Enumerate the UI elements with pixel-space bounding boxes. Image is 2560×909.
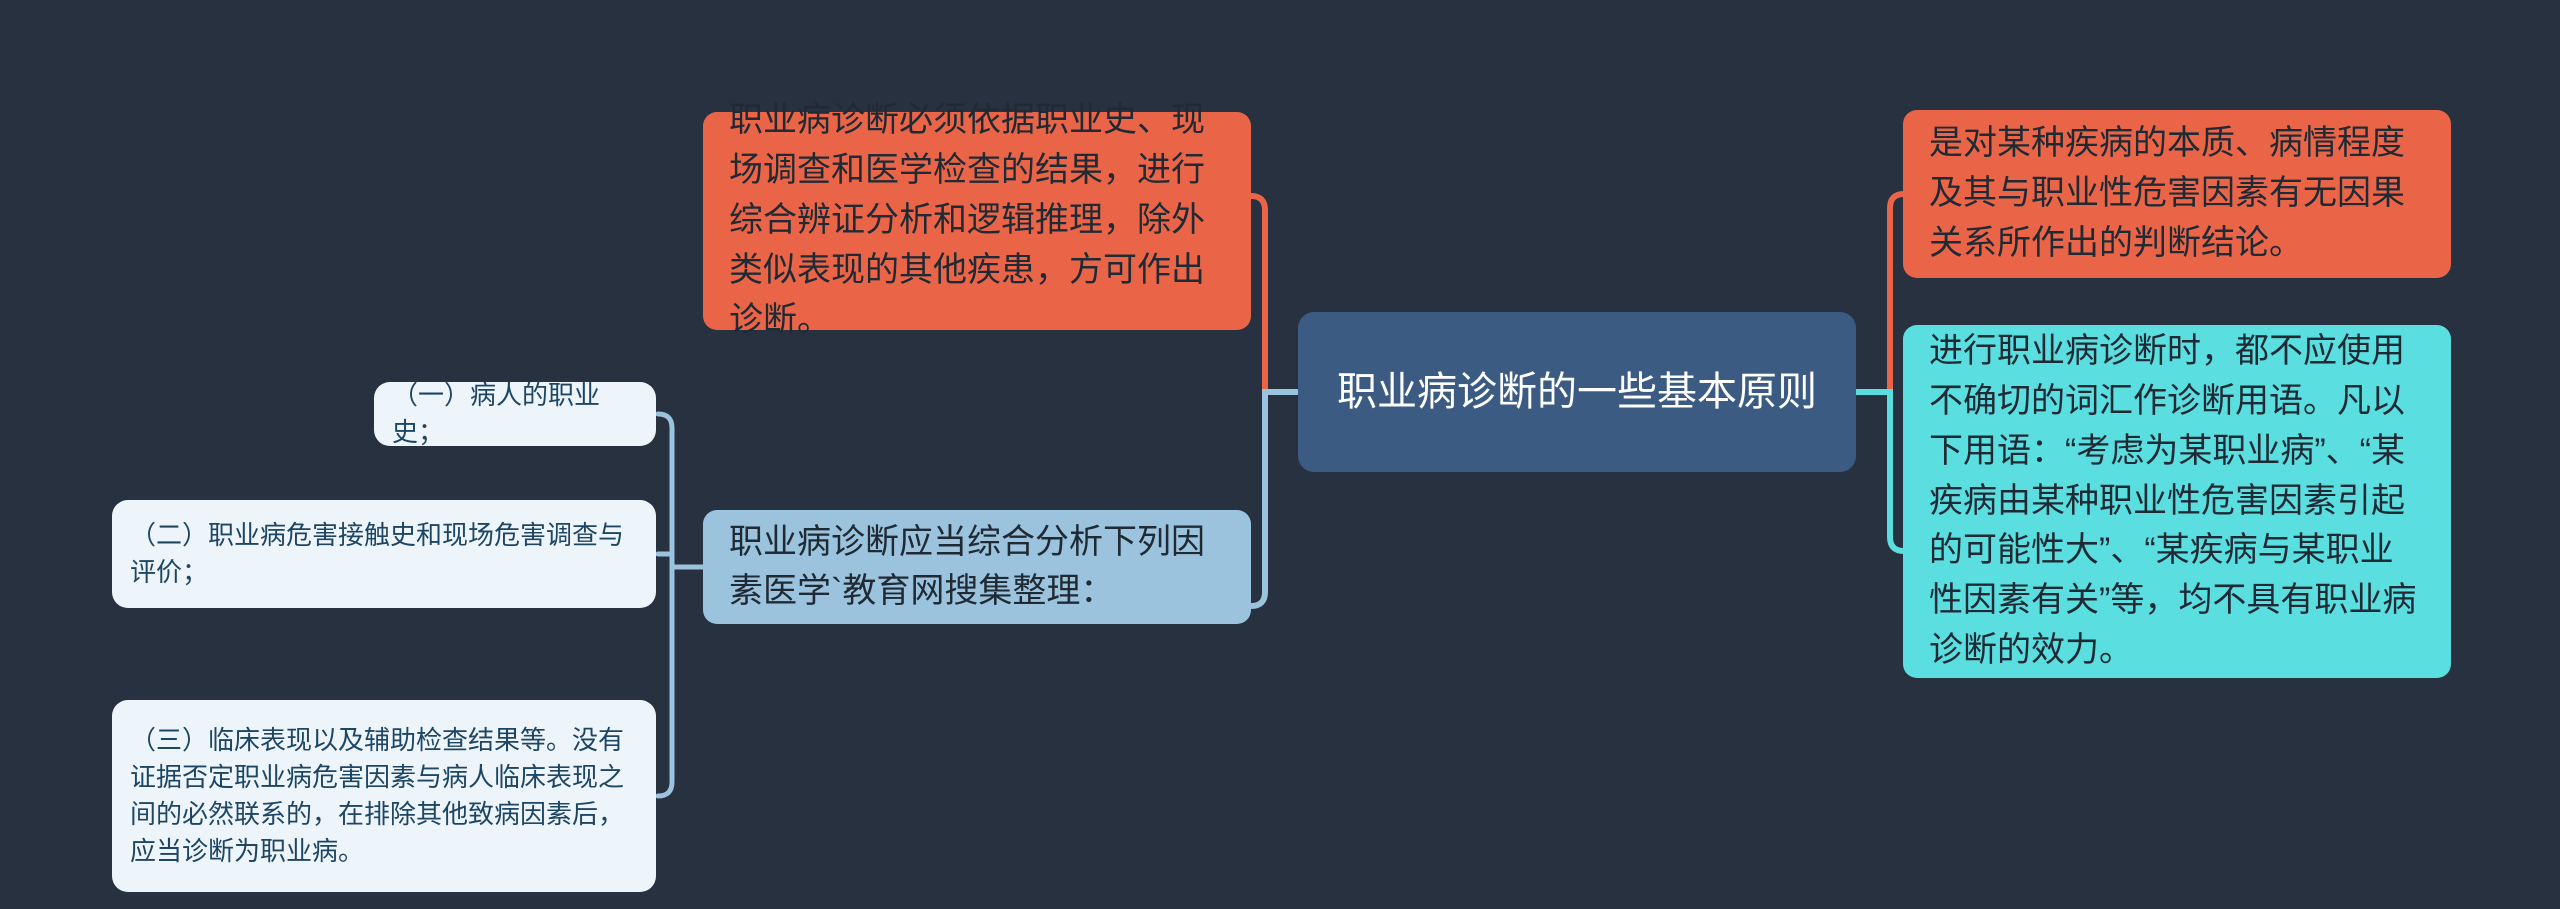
connector-root-to-right-top — [1856, 194, 1904, 392]
connector-lightblue-to-leaf-1 — [658, 414, 703, 567]
connector-root-to-right-bottom — [1856, 392, 1904, 551]
branch-node-left-top-label: 职业病诊断必须依据职业史、现场调查和医学检查的结果，进行综合辨证分析和逻辑推理，… — [703, 96, 1251, 346]
branch-node-left-bottom[interactable]: 职业病诊断应当综合分析下列因素医学`教育网搜集整理： — [703, 510, 1251, 624]
root-node[interactable]: 职业病诊断的一些基本原则 — [1298, 312, 1856, 472]
leaf-node-2[interactable]: （二）职业病危害接触史和现场危害调查与评价； — [112, 500, 656, 608]
branch-node-right-top-label: 是对某种疾病的本质、病情程度及其与职业性危害因素有无因果关系所作出的判断结论。 — [1903, 119, 2451, 269]
leaf-node-3-label: （三）临床表现以及辅助检查结果等。没有证据否定职业病危害因素与病人临床表现之间的… — [112, 722, 656, 870]
branch-node-left-bottom-label: 职业病诊断应当综合分析下列因素医学`教育网搜集整理： — [703, 518, 1251, 617]
branch-node-left-top[interactable]: 职业病诊断必须依据职业史、现场调查和医学检查的结果，进行综合辨证分析和逻辑推理，… — [703, 112, 1251, 330]
leaf-node-3[interactable]: （三）临床表现以及辅助检查结果等。没有证据否定职业病危害因素与病人临床表现之间的… — [112, 700, 656, 892]
leaf-node-2-label: （二）职业病危害接触史和现场危害调查与评价； — [112, 517, 656, 591]
leaf-node-1[interactable]: （一）病人的职业史； — [374, 382, 656, 446]
root-node-label: 职业病诊断的一些基本原则 — [1298, 366, 1856, 418]
branch-node-right-bottom-label: 进行职业病诊断时，都不应使用不确切的词汇作诊断用语。凡以下用语：“考虑为某职业病… — [1903, 327, 2451, 677]
connector-root-to-left-bottom — [1251, 392, 1298, 606]
leaf-node-1-label: （一）病人的职业史； — [374, 377, 656, 451]
connector-root-to-left-top — [1251, 196, 1298, 392]
branch-node-right-top[interactable]: 是对某种疾病的本质、病情程度及其与职业性危害因素有无因果关系所作出的判断结论。 — [1903, 110, 2451, 278]
branch-node-right-bottom[interactable]: 进行职业病诊断时，都不应使用不确切的词汇作诊断用语。凡以下用语：“考虑为某职业病… — [1903, 325, 2451, 678]
connector-lightblue-to-leaf-2 — [658, 554, 703, 567]
mindmap-canvas: 职业病诊断必须依据职业史、现场调查和医学检查的结果，进行综合辨证分析和逻辑推理，… — [0, 0, 2560, 909]
connector-lightblue-to-leaf-3 — [658, 567, 703, 796]
